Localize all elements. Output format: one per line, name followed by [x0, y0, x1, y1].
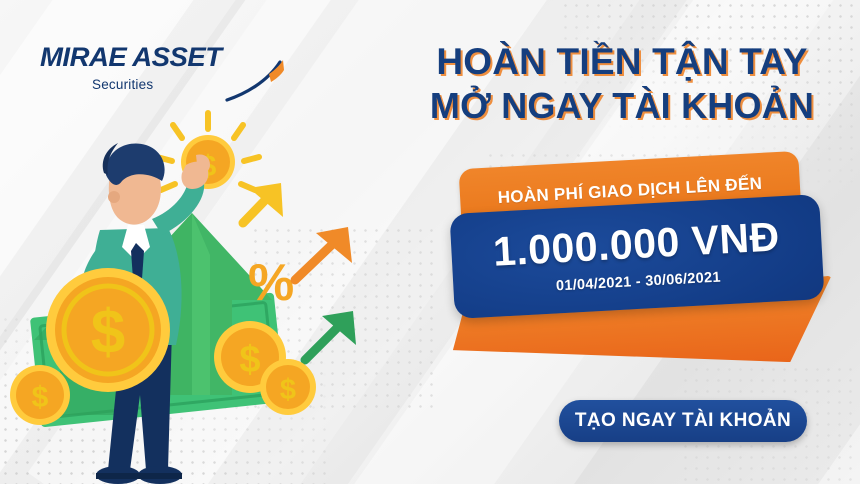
promo-panel-content: 1.000.000 VNĐ 01/04/2021 - 30/06/2021: [449, 194, 824, 319]
hero-illustration: %: [0, 95, 400, 484]
create-account-button[interactable]: TẠO NGAY TÀI KHOẢN: [559, 400, 807, 442]
promo-banner: MIRAE ASSET Securities HOÀN TIỀN TẬN TAY…: [0, 0, 860, 484]
green-arrow-right-icon: [305, 311, 356, 360]
headline: HOÀN TIỀN TẬN TAY MỞ NGAY TÀI KHOẢN: [404, 42, 840, 125]
promo-card: HOÀN PHÍ GIAO DỊCH LÊN ĐẾN 1.000.000 VNĐ…: [452, 160, 834, 375]
logo-wordmark: MIRAE ASSET: [40, 44, 275, 71]
headline-line-2: MỞ NGAY TÀI KHOẢN: [404, 87, 840, 125]
brand-logo[interactable]: MIRAE ASSET Securities: [40, 44, 270, 92]
svg-text:$: $: [32, 381, 49, 414]
percent-symbol: %: [248, 254, 294, 312]
headline-line-1: HOÀN TIỀN TẬN TAY: [404, 42, 840, 81]
svg-text:$: $: [239, 339, 260, 381]
orange-arrow-icon: [295, 227, 352, 280]
shining-coin-icon: $: [157, 113, 259, 190]
large-coin-icon: $: [46, 268, 170, 392]
svg-text:$: $: [280, 374, 296, 406]
businessman-coins-illustration: %: [0, 95, 400, 484]
small-coin-icon: $: [10, 365, 70, 425]
promo-dates: 01/04/2021 - 30/06/2021: [556, 269, 722, 294]
svg-text:$: $: [91, 298, 125, 367]
promo-amount: 1.000.000 VNĐ: [492, 216, 781, 272]
